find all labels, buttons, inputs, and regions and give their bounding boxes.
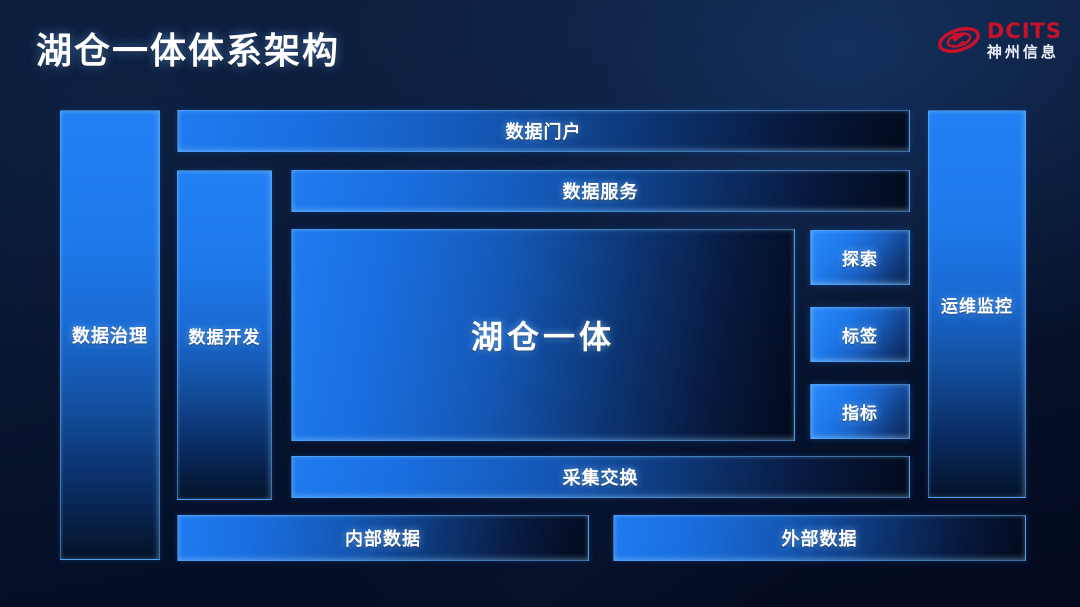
chip-metric-label: 指标	[842, 399, 878, 424]
bar-collection-exchange-label: 采集交换	[563, 464, 639, 490]
logo-text-en: DCITS	[987, 21, 1062, 42]
bar-internal-data[interactable]: 内部数据	[177, 515, 589, 561]
pillar-ops-monitoring-label: 运维监控	[941, 292, 1013, 317]
pillar-data-governance-label: 数据治理	[72, 322, 148, 348]
bar-external-data[interactable]: 外部数据	[613, 515, 1026, 561]
bar-internal-data-label: 内部数据	[345, 525, 421, 551]
bar-data-service-label: 数据服务	[563, 178, 639, 204]
pillar-data-governance[interactable]: 数据治理	[60, 110, 160, 560]
chip-explore-label: 探索	[842, 245, 878, 270]
center-lakehouse-label: 湖仓一体	[471, 312, 615, 358]
dcits-swirl-logo-icon	[937, 20, 981, 60]
bar-data-portal[interactable]: 数据门户	[177, 110, 910, 152]
chip-tag[interactable]: 标签	[810, 307, 910, 362]
slide-canvas: 湖仓一体体系架构 DCITS 神州信息 数据治理 数据门户 数据开发 数据服务	[0, 0, 1080, 607]
bar-data-portal-label: 数据门户	[506, 118, 582, 144]
pillar-ops-monitoring[interactable]: 运维监控	[928, 110, 1026, 498]
brand-logo: DCITS 神州信息	[937, 16, 1062, 64]
chip-metric[interactable]: 指标	[810, 384, 910, 439]
chip-tag-label: 标签	[842, 322, 878, 347]
bar-external-data-label: 外部数据	[782, 525, 858, 551]
pillar-data-development-label: 数据开发	[189, 323, 261, 348]
center-lakehouse[interactable]: 湖仓一体	[291, 229, 795, 441]
logo-text-cn: 神州信息	[987, 45, 1062, 60]
bar-data-service[interactable]: 数据服务	[291, 170, 910, 212]
chip-explore[interactable]: 探索	[810, 230, 910, 285]
pillar-data-development[interactable]: 数据开发	[177, 170, 272, 500]
bar-collection-exchange[interactable]: 采集交换	[291, 456, 910, 498]
page-title: 湖仓一体体系架构	[36, 22, 340, 74]
